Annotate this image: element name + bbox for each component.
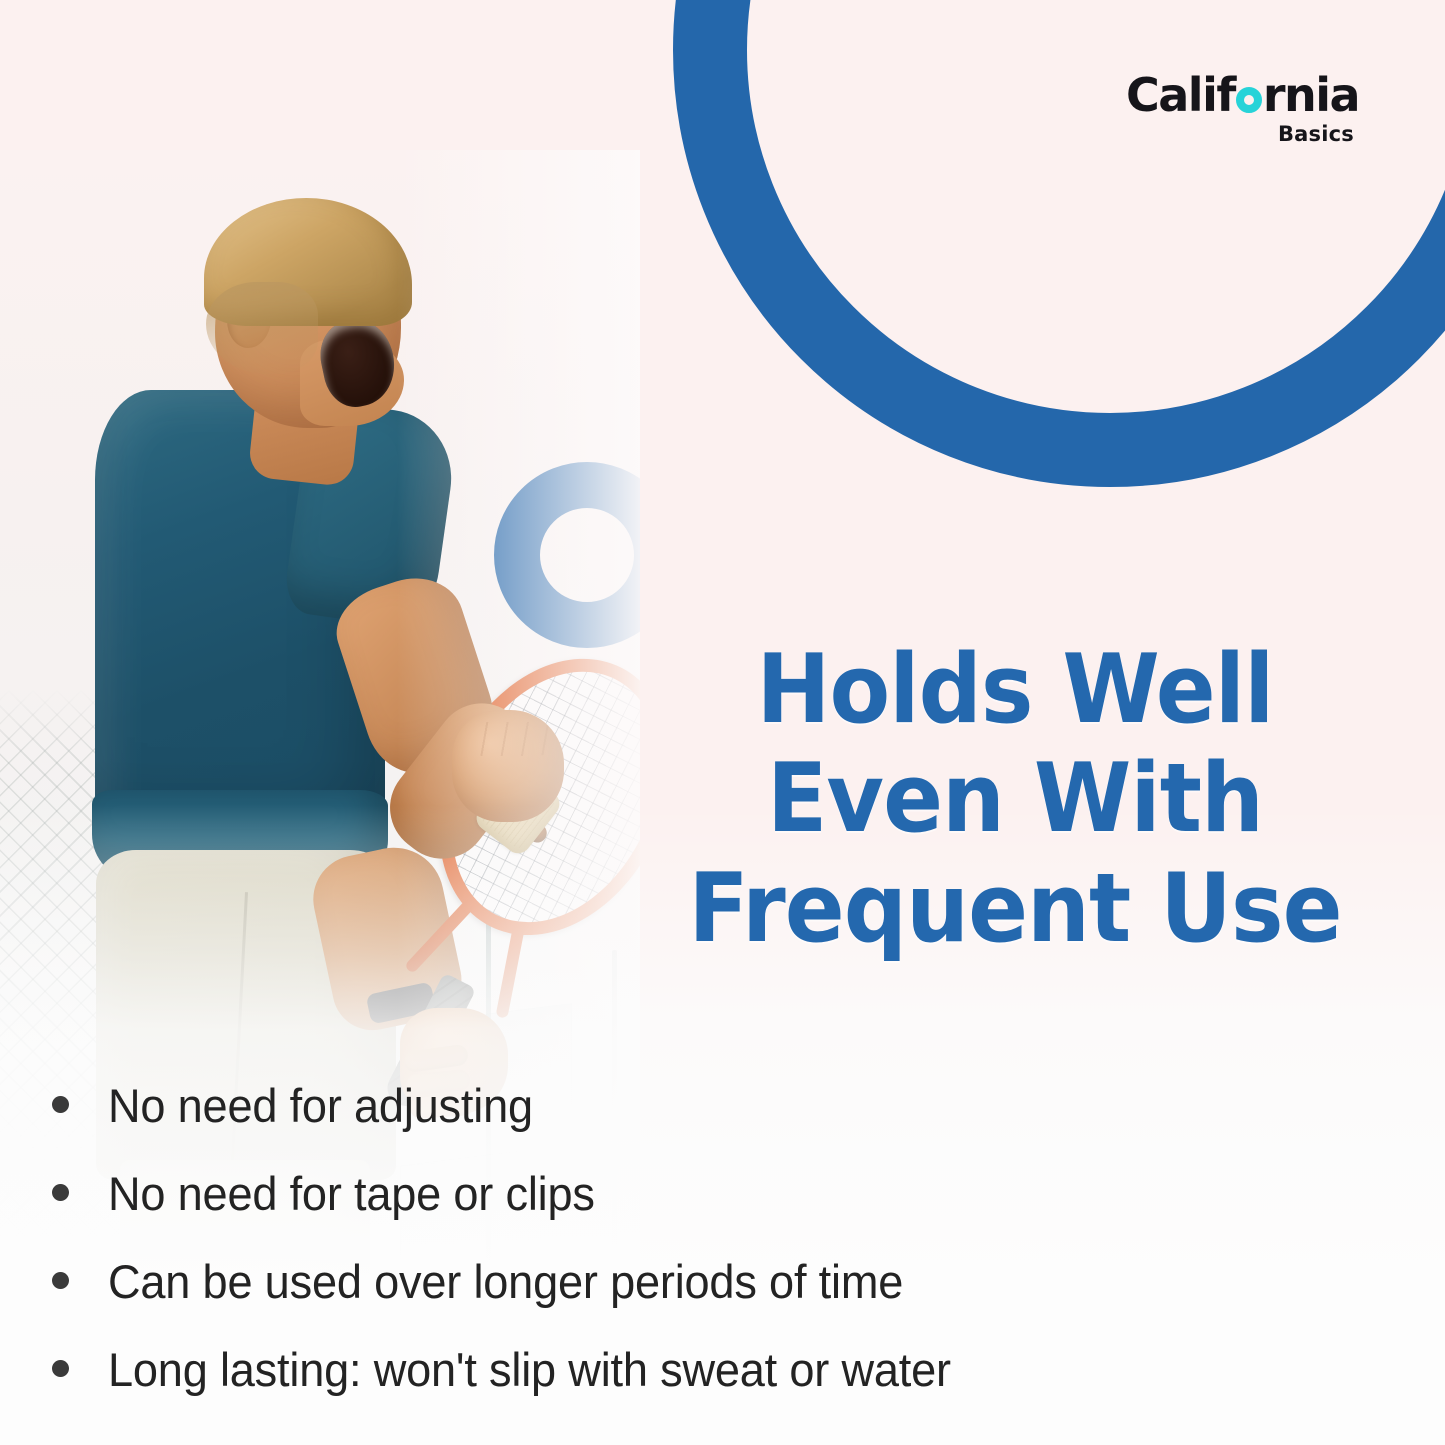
list-item: No need for adjusting — [52, 1078, 1392, 1166]
headline-line-3: Frequent Use — [648, 855, 1383, 964]
bullet-dot-icon — [52, 1272, 69, 1289]
headline-line-1: Holds Well — [648, 636, 1383, 745]
brand-name-part1: Calif — [1126, 68, 1235, 122]
brand-subtitle: Basics — [1126, 122, 1354, 146]
list-item: No need for tape or clips — [52, 1166, 1392, 1254]
bullet-dot-icon — [52, 1184, 69, 1201]
list-item-label: No need for tape or clips — [108, 1166, 595, 1221]
list-item: Long lasting: won't slip with sweat or w… — [52, 1342, 1392, 1430]
teal-o-ring-icon — [1236, 87, 1262, 113]
brand-logo: Califrnia Basics — [1126, 72, 1358, 150]
list-item-label: Long lasting: won't slip with sweat or w… — [108, 1342, 951, 1397]
list-item: Can be used over longer periods of time — [52, 1254, 1392, 1342]
product-feature-ad: Califrnia Basics Holds Well Even With Fr… — [0, 0, 1445, 1445]
brand-name-part2: rnia — [1263, 68, 1359, 122]
page-title: Holds Well Even With Frequent Use — [648, 636, 1383, 964]
list-item-label: Can be used over longer periods of time — [108, 1254, 903, 1309]
feature-list: No need for adjusting No need for tape o… — [52, 1078, 1392, 1430]
bullet-dot-icon — [52, 1360, 69, 1377]
headline-line-2: Even With — [648, 745, 1383, 854]
bullet-dot-icon — [52, 1096, 69, 1113]
brand-name: Califrnia — [1126, 72, 1358, 118]
list-item-label: No need for adjusting — [108, 1078, 533, 1133]
